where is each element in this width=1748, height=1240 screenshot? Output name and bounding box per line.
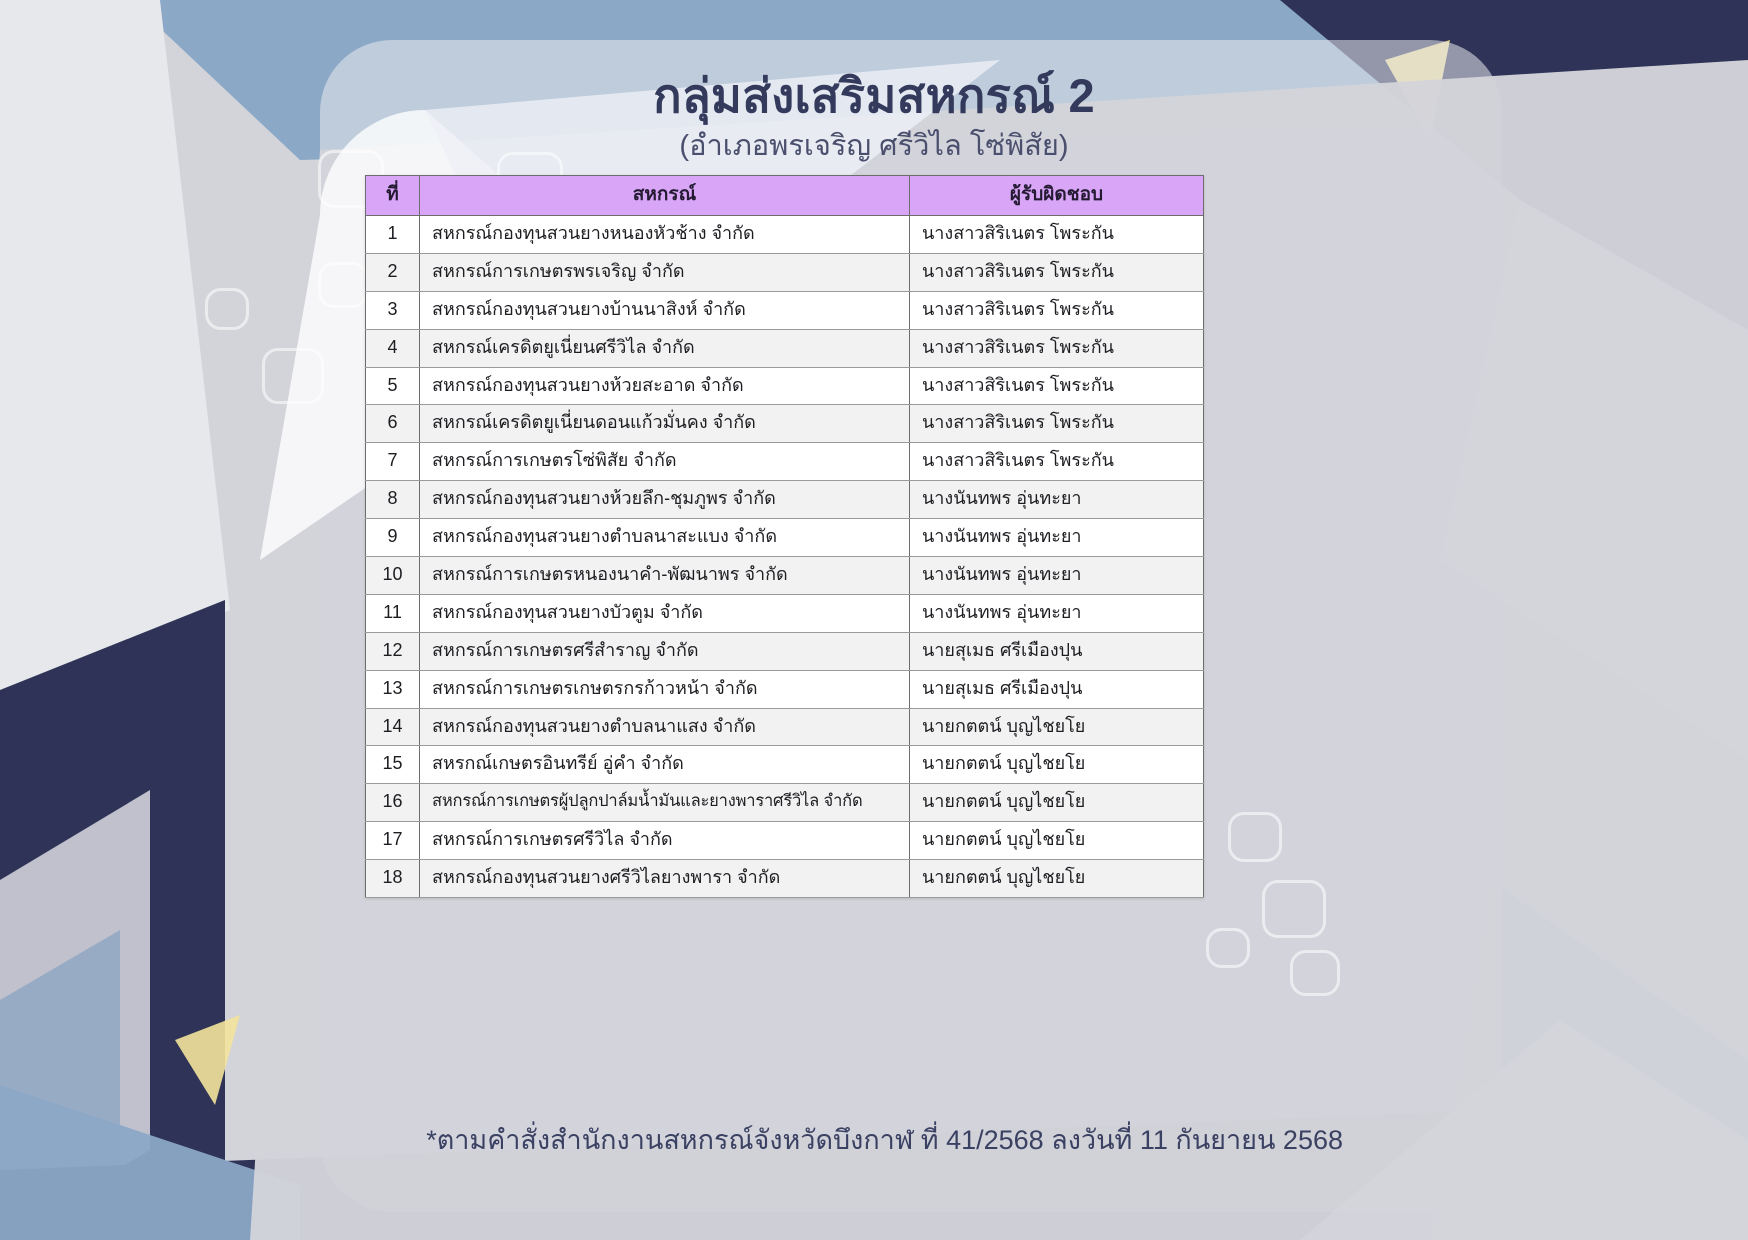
responsible-person: นางสาวสิริเนตร โพระกัน — [910, 329, 1204, 367]
cooperative-name: สหกรณ์กองทุนสวนยางบัวตูม จำกัด — [420, 594, 910, 632]
responsible-person: นางนันทพร อุ่นทะยา — [910, 519, 1204, 557]
row-index: 8 — [366, 481, 420, 519]
table-row: 16สหกรณ์การเกษตรผู้ปลูกปาล์มน้ำมันและยาง… — [366, 784, 1204, 822]
column-header-no: ที่ — [366, 176, 420, 216]
responsible-person: นายกตตน์ บุญไชยโย — [910, 784, 1204, 822]
cooperative-name: สหกรณ์กองทุนสวนยางห้วยลึก-ชุมภูพร จำกัด — [420, 481, 910, 519]
cooperative-name: สหรกณ์เกษตรอินทรีย์ อู่คำ จำกัด — [420, 746, 910, 784]
cooperative-name: สหกรณ์เครดิตยูเนี่ยนศรีวิไล จำกัด — [420, 329, 910, 367]
responsible-person: นางนันทพร อุ่นทะยา — [910, 557, 1204, 595]
table-header: ที่ สหกรณ์ ผู้รับผิดชอบ — [366, 176, 1204, 216]
row-index: 7 — [366, 443, 420, 481]
cooperative-name: สหกรณ์กองทุนสวนยางศรีวิไลยางพารา จำกัด — [420, 860, 910, 898]
cooperative-name: สหกรณ์กองทุนสวนยางตำบลนาแสง จำกัด — [420, 708, 910, 746]
row-index: 13 — [366, 670, 420, 708]
cooperative-name: สหกรณ์เครดิตยูเนี่ยนดอนแก้วมั่นคง จำกัด — [420, 405, 910, 443]
table-row: 8สหกรณ์กองทุนสวนยางห้วยลึก-ชุมภูพร จำกัด… — [366, 481, 1204, 519]
responsible-person: นางสาวสิริเนตร โพระกัน — [910, 405, 1204, 443]
slide-content: กลุ่มส่งเสริมสหกรณ์ 2 (อำเภอพรเจริญ ศรีว… — [0, 0, 1748, 1240]
row-index: 10 — [366, 557, 420, 595]
cooperative-name: สหกรณ์กองทุนสวนยางห้วยสะอาด จำกัด — [420, 367, 910, 405]
responsible-person: นายกตตน์ บุญไชยโย — [910, 860, 1204, 898]
table-row: 17สหกรณ์การเกษตรศรีวิไล จำกัดนายกตตน์ บุ… — [366, 822, 1204, 860]
responsible-person: นายกตตน์ บุญไชยโย — [910, 708, 1204, 746]
responsible-person: นางนันทพร อุ่นทะยา — [910, 594, 1204, 632]
cooperative-name: สหกรณ์การเกษตรศรีวิไล จำกัด — [420, 822, 910, 860]
cooperative-name: สหกรณ์การเกษตรเกษตรกรก้าวหน้า จำกัด — [420, 670, 910, 708]
table-row: 11สหกรณ์กองทุนสวนยางบัวตูม จำกัดนางนันทพ… — [366, 594, 1204, 632]
table-row: 4สหกรณ์เครดิตยูเนี่ยนศรีวิไล จำกัดนางสาว… — [366, 329, 1204, 367]
table-row: 9สหกรณ์กองทุนสวนยางตำบลนาสะแบง จำกัดนางน… — [366, 519, 1204, 557]
row-index: 5 — [366, 367, 420, 405]
row-index: 12 — [366, 632, 420, 670]
table-row: 5สหกรณ์กองทุนสวนยางห้วยสะอาด จำกัดนางสาว… — [366, 367, 1204, 405]
responsible-person: นายสุเมธ ศรีเมืองปุน — [910, 632, 1204, 670]
table-row: 3สหกรณ์กองทุนสวนยางบ้านนาสิงห์ จำกัดนางส… — [366, 291, 1204, 329]
table-row: 15สหรกณ์เกษตรอินทรีย์ อู่คำ จำกัดนายกตตน… — [366, 746, 1204, 784]
table-row: 2สหกรณ์การเกษตรพรเจริญ จำกัดนางสาวสิริเน… — [366, 253, 1204, 291]
responsible-person: นายกตตน์ บุญไชยโย — [910, 822, 1204, 860]
responsible-person: นางสาวสิริเนตร โพระกัน — [910, 291, 1204, 329]
responsible-person: นายสุเมธ ศรีเมืองปุน — [910, 670, 1204, 708]
cooperative-name: สหกรณ์การเกษตรผู้ปลูกปาล์มน้ำมันและยางพา… — [420, 784, 910, 822]
column-header-name: สหกรณ์ — [420, 176, 910, 216]
cooperatives-table: ที่ สหกรณ์ ผู้รับผิดชอบ 1สหกรณ์กองทุนสวน… — [365, 175, 1204, 898]
responsible-person: นางสาวสิริเนตร โพระกัน — [910, 216, 1204, 254]
row-index: 4 — [366, 329, 420, 367]
cooperative-name: สหกรณ์กองทุนสวนยางบ้านนาสิงห์ จำกัด — [420, 291, 910, 329]
responsible-person: นางสาวสิริเนตร โพระกัน — [910, 367, 1204, 405]
table-row: 10สหกรณ์การเกษตรหนองนาคำ-พัฒนาพร จำกัดนา… — [366, 557, 1204, 595]
cooperative-name: สหกรณ์การเกษตรโซ่พิสัย จำกัด — [420, 443, 910, 481]
table-header-row: ที่ สหกรณ์ ผู้รับผิดชอบ — [366, 176, 1204, 216]
cooperative-name: สหกรณ์กองทุนสวนยางหนองหัวช้าง จำกัด — [420, 216, 910, 254]
footnote: *ตามคำสั่งสำนักงานสหกรณ์จังหวัดบึงกาฬ ที… — [426, 1118, 1343, 1161]
cooperative-name: สหกรณ์การเกษตรศรีสำราญ จำกัด — [420, 632, 910, 670]
row-index: 3 — [366, 291, 420, 329]
table-row: 14สหกรณ์กองทุนสวนยางตำบลนาแสง จำกัดนายกต… — [366, 708, 1204, 746]
responsible-person: นางนันทพร อุ่นทะยา — [910, 481, 1204, 519]
responsible-person: นางสาวสิริเนตร โพระกัน — [910, 443, 1204, 481]
table-body: 1สหกรณ์กองทุนสวนยางหนองหัวช้าง จำกัดนางส… — [366, 216, 1204, 898]
table-row: 6สหกรณ์เครดิตยูเนี่ยนดอนแก้วมั่นคง จำกัด… — [366, 405, 1204, 443]
row-index: 14 — [366, 708, 420, 746]
cooperative-name: สหกรณ์การเกษตรหนองนาคำ-พัฒนาพร จำกัด — [420, 557, 910, 595]
table-row: 18สหกรณ์กองทุนสวนยางศรีวิไลยางพารา จำกัด… — [366, 860, 1204, 898]
table-row: 1สหกรณ์กองทุนสวนยางหนองหัวช้าง จำกัดนางส… — [366, 216, 1204, 254]
responsible-person: นางสาวสิริเนตร โพระกัน — [910, 253, 1204, 291]
cooperative-name: สหกรณ์กองทุนสวนยางตำบลนาสะแบง จำกัด — [420, 519, 910, 557]
table-row: 7สหกรณ์การเกษตรโซ่พิสัย จำกัดนางสาวสิริเ… — [366, 443, 1204, 481]
table-row: 12สหกรณ์การเกษตรศรีสำราญ จำกัดนายสุเมธ ศ… — [366, 632, 1204, 670]
row-index: 11 — [366, 594, 420, 632]
responsible-person: นายกตตน์ บุญไชยโย — [910, 746, 1204, 784]
row-index: 17 — [366, 822, 420, 860]
row-index: 1 — [366, 216, 420, 254]
page-subtitle: (อำเภอพรเจริญ ศรีวิไล โซ่พิสัย) — [0, 122, 1748, 168]
cooperative-name: สหกรณ์การเกษตรพรเจริญ จำกัด — [420, 253, 910, 291]
row-index: 9 — [366, 519, 420, 557]
row-index: 16 — [366, 784, 420, 822]
table-row: 13สหกรณ์การเกษตรเกษตรกรก้าวหน้า จำกัดนาย… — [366, 670, 1204, 708]
row-index: 6 — [366, 405, 420, 443]
row-index: 15 — [366, 746, 420, 784]
column-header-owner: ผู้รับผิดชอบ — [910, 176, 1204, 216]
row-index: 18 — [366, 860, 420, 898]
row-index: 2 — [366, 253, 420, 291]
cooperatives-table-wrapper: ที่ สหกรณ์ ผู้รับผิดชอบ 1สหกรณ์กองทุนสวน… — [365, 175, 1203, 898]
